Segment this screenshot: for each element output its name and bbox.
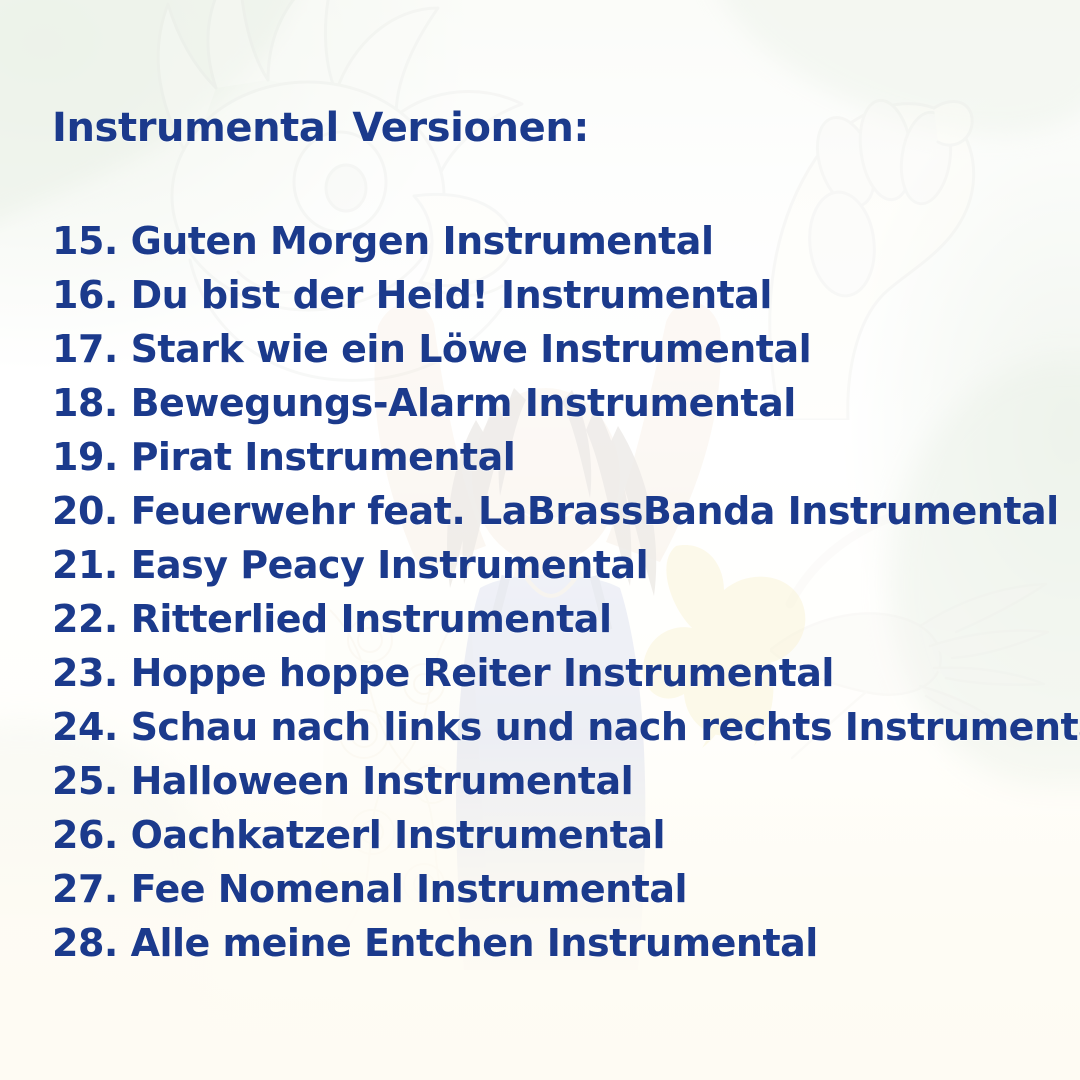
tracklist-item: 26. Oachkatzerl Instrumental [52, 808, 1080, 862]
tracklist-item-number: 23. [52, 651, 118, 695]
tracklist-item-number: 20. [52, 489, 118, 533]
poster-canvas: Instrumental Versionen: 15. Guten Morgen… [0, 0, 1080, 1080]
tracklist-item-number: 16. [52, 273, 118, 317]
tracklist-item: 27. Fee Nomenal Instrumental [52, 862, 1080, 916]
tracklist-item-number: 27. [52, 867, 118, 911]
tracklist-item-number: 22. [52, 597, 118, 641]
tracklist-item: 25. Halloween Instrumental [52, 754, 1080, 808]
tracklist-item-title: Halloween Instrumental [131, 759, 634, 803]
tracklist-item-number: 18. [52, 381, 118, 425]
tracklist-item-number: 17. [52, 327, 118, 371]
tracklist-item: 20. Feuerwehr feat. LaBrassBanda Instrum… [52, 484, 1080, 538]
tracklist-item: 15. Guten Morgen Instrumental [52, 214, 1080, 268]
tracklist-item: 24. Schau nach links und nach rechts Ins… [52, 700, 1080, 754]
tracklist-item: 19. Pirat Instrumental [52, 430, 1080, 484]
tracklist-item-title: Alle meine Entchen Instrumental [131, 921, 818, 965]
tracklist-item-title: Stark wie ein Löwe Instrumental [131, 327, 812, 371]
tracklist-item-title: Feuerwehr feat. LaBrassBanda Instrumenta… [131, 489, 1059, 533]
tracklist: 15. Guten Morgen Instrumental16. Du bist… [52, 214, 1080, 970]
tracklist-item-title: Hoppe hoppe Reiter Instrumental [131, 651, 834, 695]
tracklist-item: 28. Alle meine Entchen Instrumental [52, 916, 1080, 970]
tracklist-item: 16. Du bist der Held! Instrumental [52, 268, 1080, 322]
tracklist-item-title: Bewegungs-Alarm Instrumental [131, 381, 796, 425]
tracklist-item-number: 15. [52, 219, 118, 263]
tracklist-item-number: 28. [52, 921, 118, 965]
tracklist-item: 21. Easy Peacy Instrumental [52, 538, 1080, 592]
tracklist-item-title: Guten Morgen Instrumental [131, 219, 714, 263]
tracklist-item-number: 24. [52, 705, 118, 749]
tracklist-item-title: Pirat Instrumental [131, 435, 516, 479]
tracklist-item-title: Fee Nomenal Instrumental [131, 867, 687, 911]
content-area: Instrumental Versionen: 15. Guten Morgen… [52, 0, 1080, 1080]
tracklist-item-title: Ritterlied Instrumental [131, 597, 612, 641]
tracklist-item-title: Du bist der Held! Instrumental [131, 273, 772, 317]
tracklist-item-title: Oachkatzerl Instrumental [131, 813, 666, 857]
tracklist-item: 17. Stark wie ein Löwe Instrumental [52, 322, 1080, 376]
page-title: Instrumental Versionen: [52, 105, 589, 151]
tracklist-item-number: 21. [52, 543, 118, 587]
tracklist-item: 18. Bewegungs-Alarm Instrumental [52, 376, 1080, 430]
tracklist-item-number: 25. [52, 759, 118, 803]
tracklist-item-title: Easy Peacy Instrumental [131, 543, 649, 587]
tracklist-item: 22. Ritterlied Instrumental [52, 592, 1080, 646]
tracklist-item: 23. Hoppe hoppe Reiter Instrumental [52, 646, 1080, 700]
tracklist-item-number: 19. [52, 435, 118, 479]
tracklist-item-number: 26. [52, 813, 118, 857]
tracklist-item-title: Schau nach links und nach rechts Instrum… [131, 705, 1080, 749]
